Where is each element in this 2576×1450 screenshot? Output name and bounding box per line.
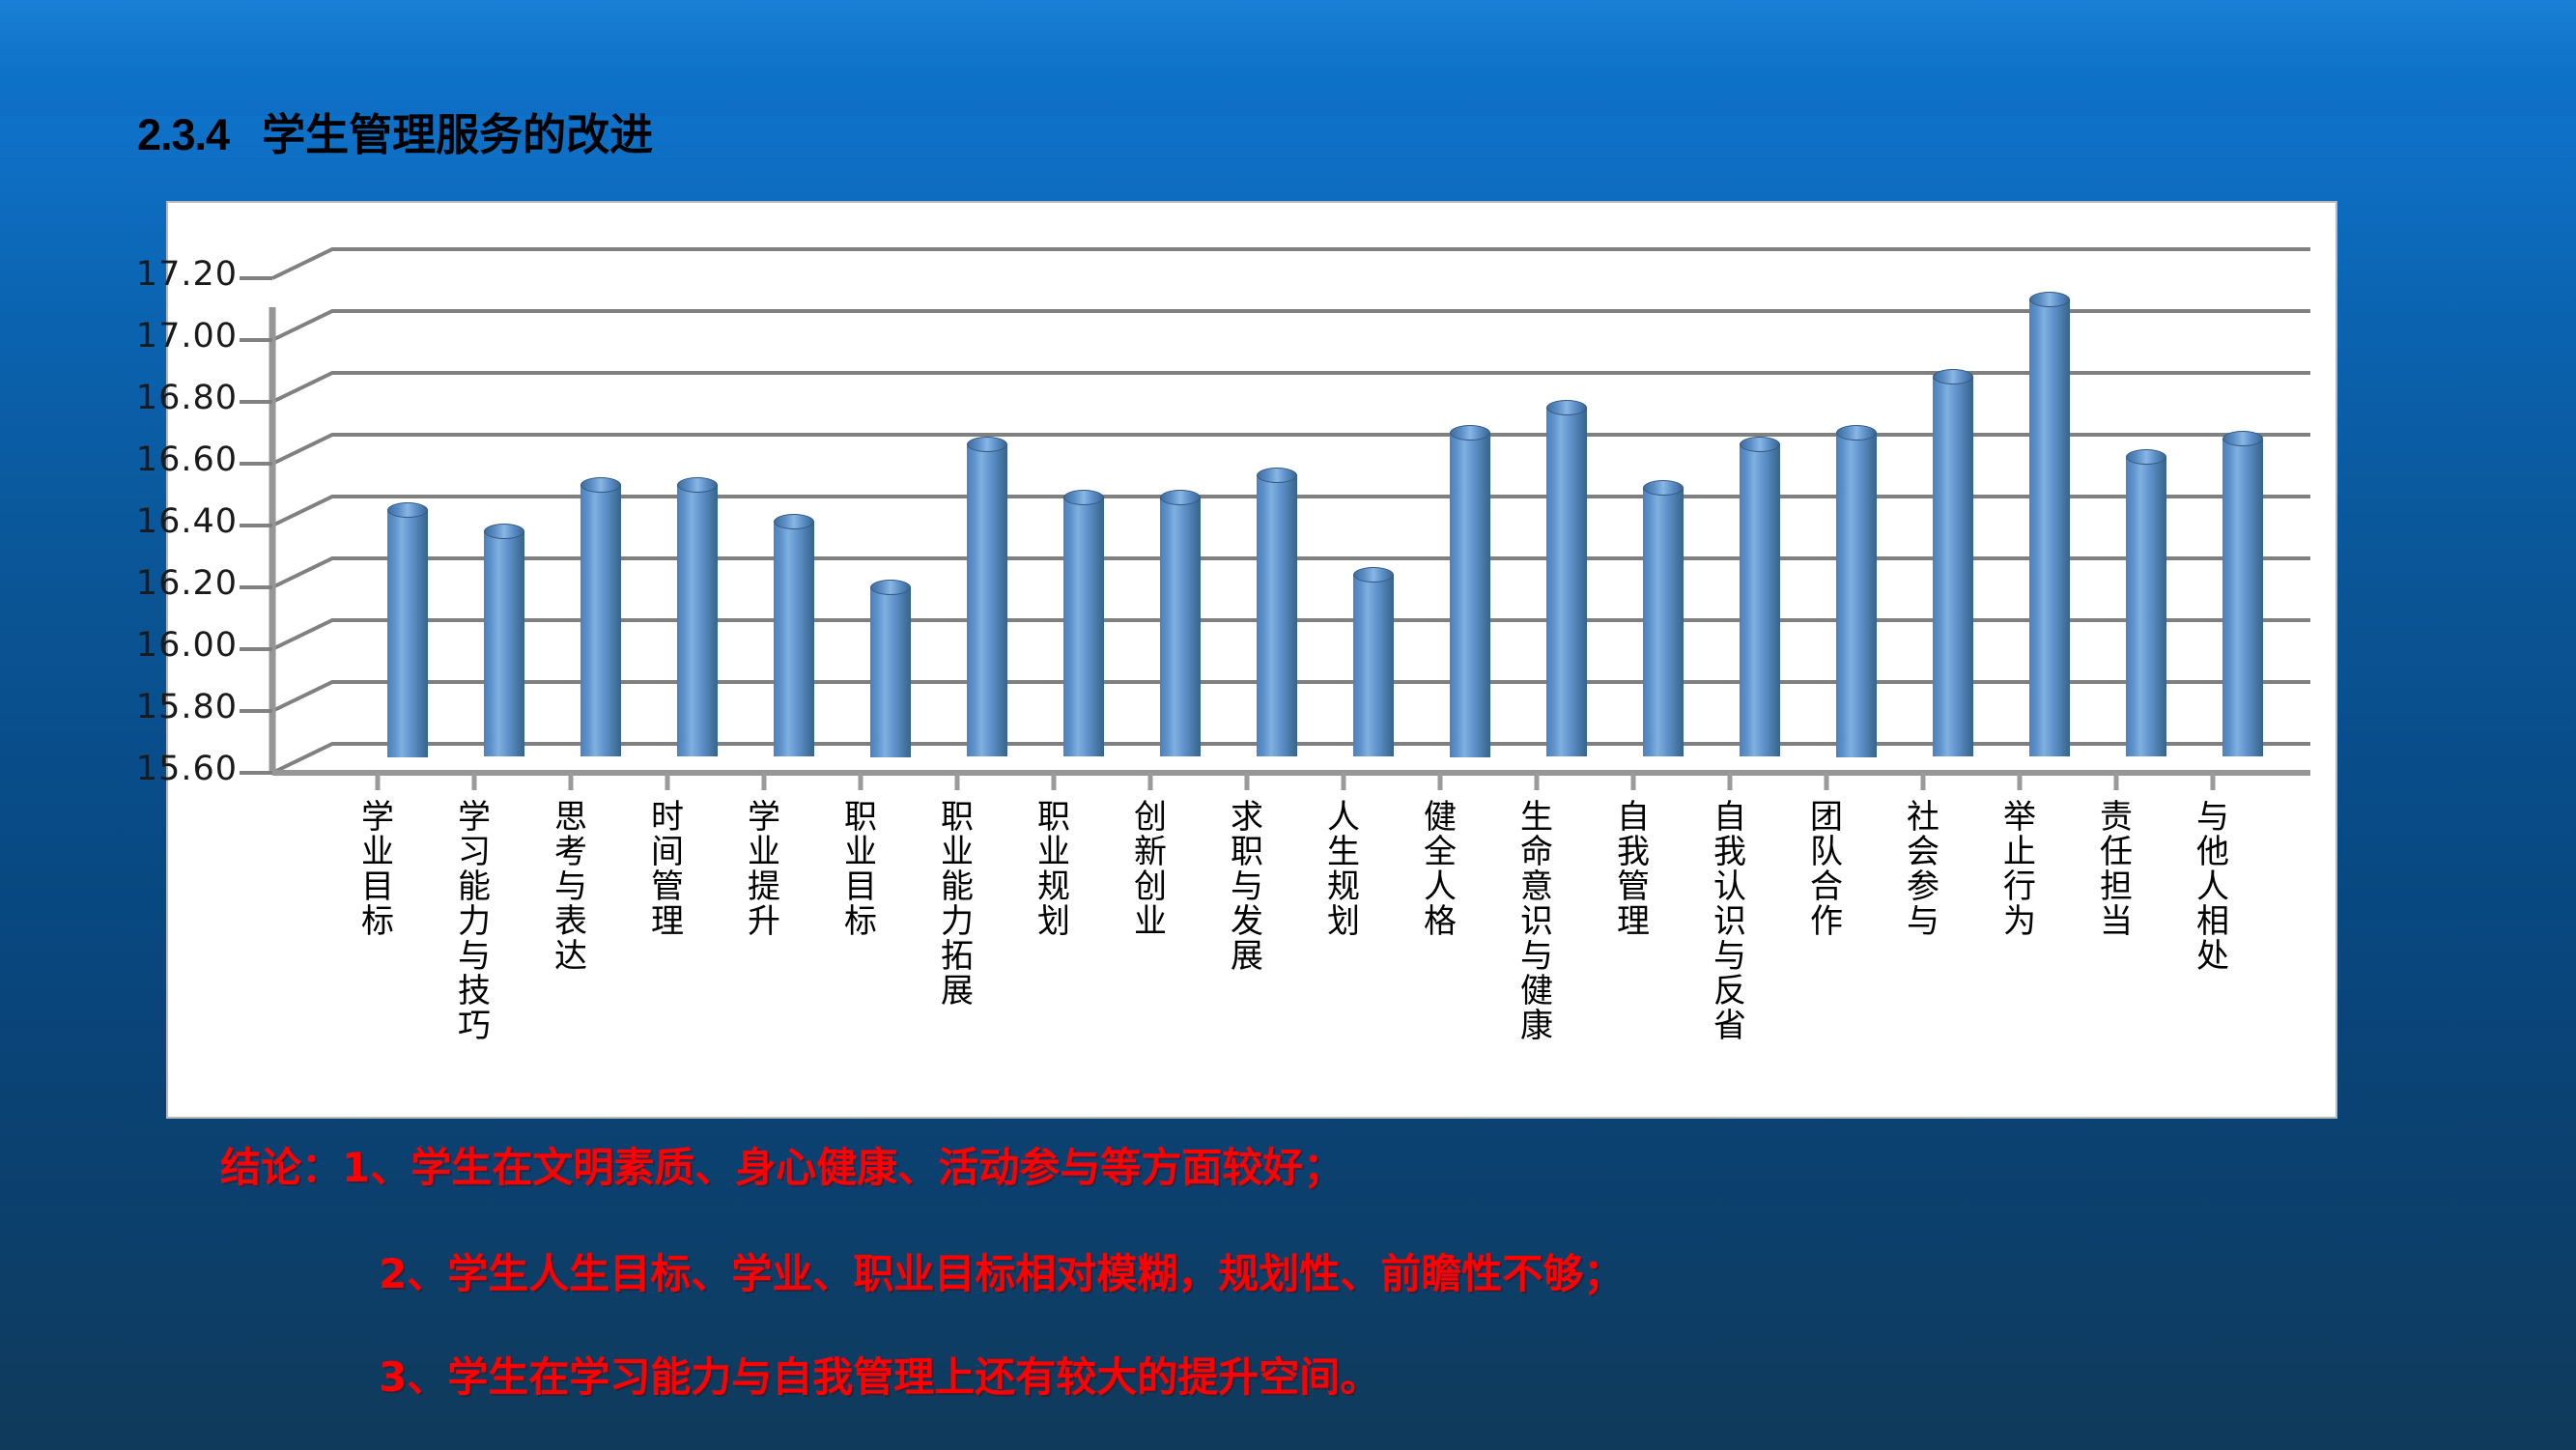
- bar-cap: [1160, 490, 1201, 505]
- x-axis-category-label: 创新创业: [1133, 800, 1168, 939]
- bar-cap: [387, 502, 428, 518]
- bar-cap: [1063, 490, 1104, 505]
- bar: [1546, 408, 1587, 757]
- bar-cap: [1257, 468, 1297, 483]
- y-axis-tick-label: 15.80: [54, 688, 238, 726]
- x-axis-category-label: 健全人格: [1423, 800, 1458, 939]
- x-axis-category-label: 社会参与: [1906, 800, 1940, 939]
- conclusion-line-2: 2、学生人生目标、学业、职业目标相对模糊，规划性、前瞻性不够；: [379, 1241, 1624, 1300]
- bar-cap: [1933, 369, 1973, 384]
- x-axis-category-label: 自我认识与反省: [1713, 800, 1747, 1043]
- bar: [677, 485, 718, 757]
- x-axis-category-label: 责任担当: [2099, 800, 2134, 939]
- y-axis-tick-label: 17.20: [54, 255, 238, 294]
- bar-cap: [1643, 480, 1684, 496]
- bar: [1836, 433, 1877, 757]
- x-axis-category-label: 职业目标: [843, 800, 878, 939]
- bar: [1160, 498, 1201, 757]
- bar: [774, 522, 814, 756]
- x-axis-category-label: 职业能力拓展: [940, 800, 975, 1009]
- y-axis-tick-label: 16.60: [54, 441, 238, 479]
- x-axis-category-label: 职业规划: [1036, 800, 1071, 939]
- bar-cap: [1450, 425, 1490, 441]
- bar: [1450, 433, 1490, 757]
- conclusion-line-1: 结论：1、学生在文明素质、身心健康、活动参与等方面较好；: [220, 1135, 1344, 1194]
- y-axis-tick-label: 16.80: [54, 379, 238, 417]
- bar-cap: [677, 477, 718, 493]
- bar-cap: [2029, 292, 2070, 307]
- x-axis-category-label: 举止行为: [2002, 800, 2037, 939]
- x-axis-category-label: 学业提升: [747, 800, 781, 939]
- bar: [484, 531, 524, 757]
- y-axis-tick-label: 16.20: [54, 564, 238, 603]
- bar: [387, 510, 428, 757]
- conclusion-line-3: 3、学生在学习能力与自我管理上还有较大的提升空间。: [379, 1345, 1380, 1404]
- bar: [1257, 475, 1297, 756]
- bar: [2126, 457, 2166, 756]
- y-axis-tick-label: 16.00: [54, 626, 238, 665]
- bar: [2222, 439, 2263, 757]
- background-top-glow: [0, 0, 2576, 116]
- bar-cap: [967, 437, 1007, 452]
- x-axis-category-label: 求职与发展: [1230, 800, 1264, 974]
- bar: [1740, 444, 1780, 756]
- bar: [1063, 498, 1104, 757]
- bar-cap: [1740, 437, 1780, 452]
- x-axis-category-label: 学习能力与技巧: [457, 800, 492, 1043]
- y-axis-tick-label: 15.60: [54, 750, 238, 788]
- bar: [1643, 488, 1684, 756]
- bar-cap: [2126, 449, 2166, 465]
- x-axis-category-label: 时间管理: [650, 800, 685, 939]
- page-title: 2.3.4学生管理服务的改进: [137, 100, 653, 162]
- x-axis-category-label: 与他人相处: [2195, 800, 2230, 974]
- bar-cap: [870, 580, 911, 595]
- x-axis-category-label: 思考与表达: [553, 800, 588, 974]
- x-axis-category-label: 自我管理: [1616, 800, 1651, 939]
- title-number: 2.3.4: [137, 110, 229, 159]
- bar: [2029, 299, 2070, 757]
- chart-plot-area: 17.2017.0016.8016.6016.4016.2016.0015.80…: [168, 203, 2335, 1117]
- title-text: 学生管理服务的改进: [262, 109, 653, 160]
- bar: [580, 485, 621, 757]
- bar-cap: [580, 477, 621, 493]
- y-axis-tick-label: 16.40: [54, 502, 238, 541]
- slide-canvas: 2.3.4学生管理服务的改进 17.2017.0016.8016.6016.40…: [0, 0, 2576, 1450]
- bar-cap: [1353, 567, 1394, 583]
- bar-cap: [2222, 431, 2263, 446]
- bar: [967, 444, 1007, 756]
- bar-cap: [484, 524, 524, 539]
- bar-cap: [1546, 400, 1587, 415]
- bar-cap: [774, 514, 814, 529]
- x-axis-category-label: 生命意识与健康: [1519, 800, 1554, 1043]
- x-axis-category-label: 人生规划: [1326, 800, 1361, 939]
- bar: [1353, 575, 1394, 757]
- x-axis-category-label: 团队合作: [1809, 800, 1844, 939]
- bar: [870, 587, 911, 757]
- chart-container: 17.2017.0016.8016.6016.4016.2016.0015.80…: [166, 201, 2337, 1119]
- bar-cap: [1836, 425, 1877, 441]
- bar: [1933, 377, 1973, 757]
- x-axis-category-label: 学业目标: [360, 800, 395, 939]
- y-axis-tick-label: 17.00: [54, 317, 238, 355]
